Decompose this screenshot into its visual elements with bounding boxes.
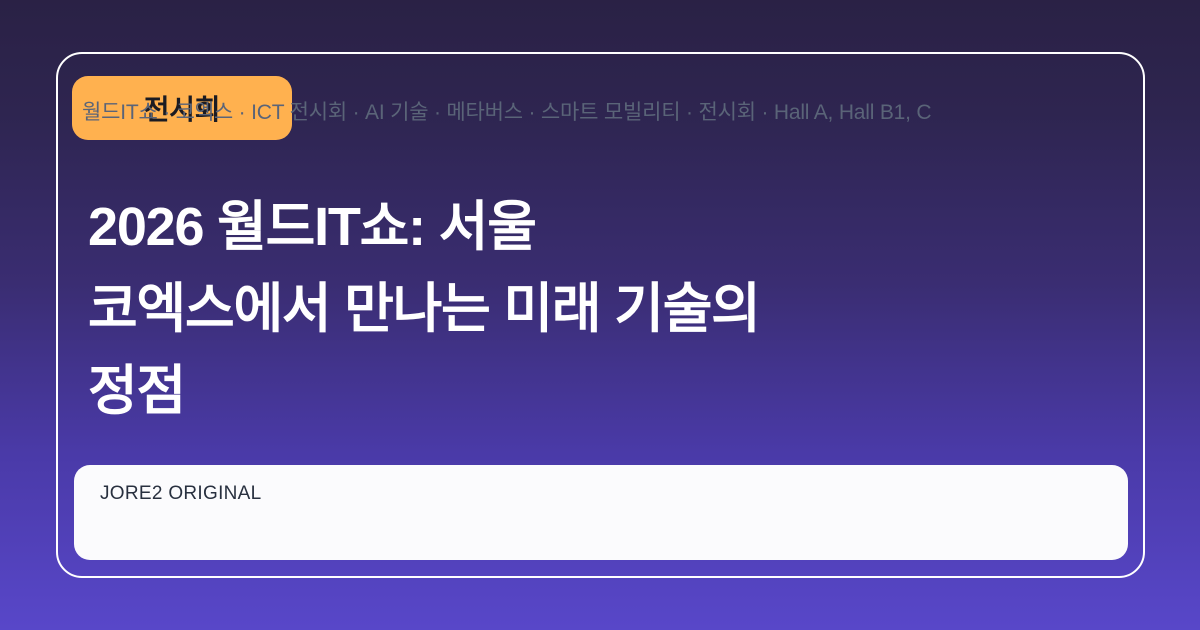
card-content: 전시회 2026 월드IT쇼: 서울 코엑스에서 만나는 미래 기술의 정점 J… (56, 52, 1145, 578)
page-title: 2026 월드IT쇼: 서울 코엑스에서 만나는 미래 기술의 정점 (88, 186, 888, 432)
meta-card: JORE2 ORIGINAL (74, 465, 1128, 560)
tag-list: 월드IT쇼 · 코엑스 · ICT 전시회 · AI 기술 · 메타버스 · 스… (82, 96, 931, 130)
brand-label: JORE2 ORIGINAL (100, 481, 1102, 507)
og-card-canvas: 전시회 2026 월드IT쇼: 서울 코엑스에서 만나는 미래 기술의 정점 J… (0, 0, 1200, 630)
